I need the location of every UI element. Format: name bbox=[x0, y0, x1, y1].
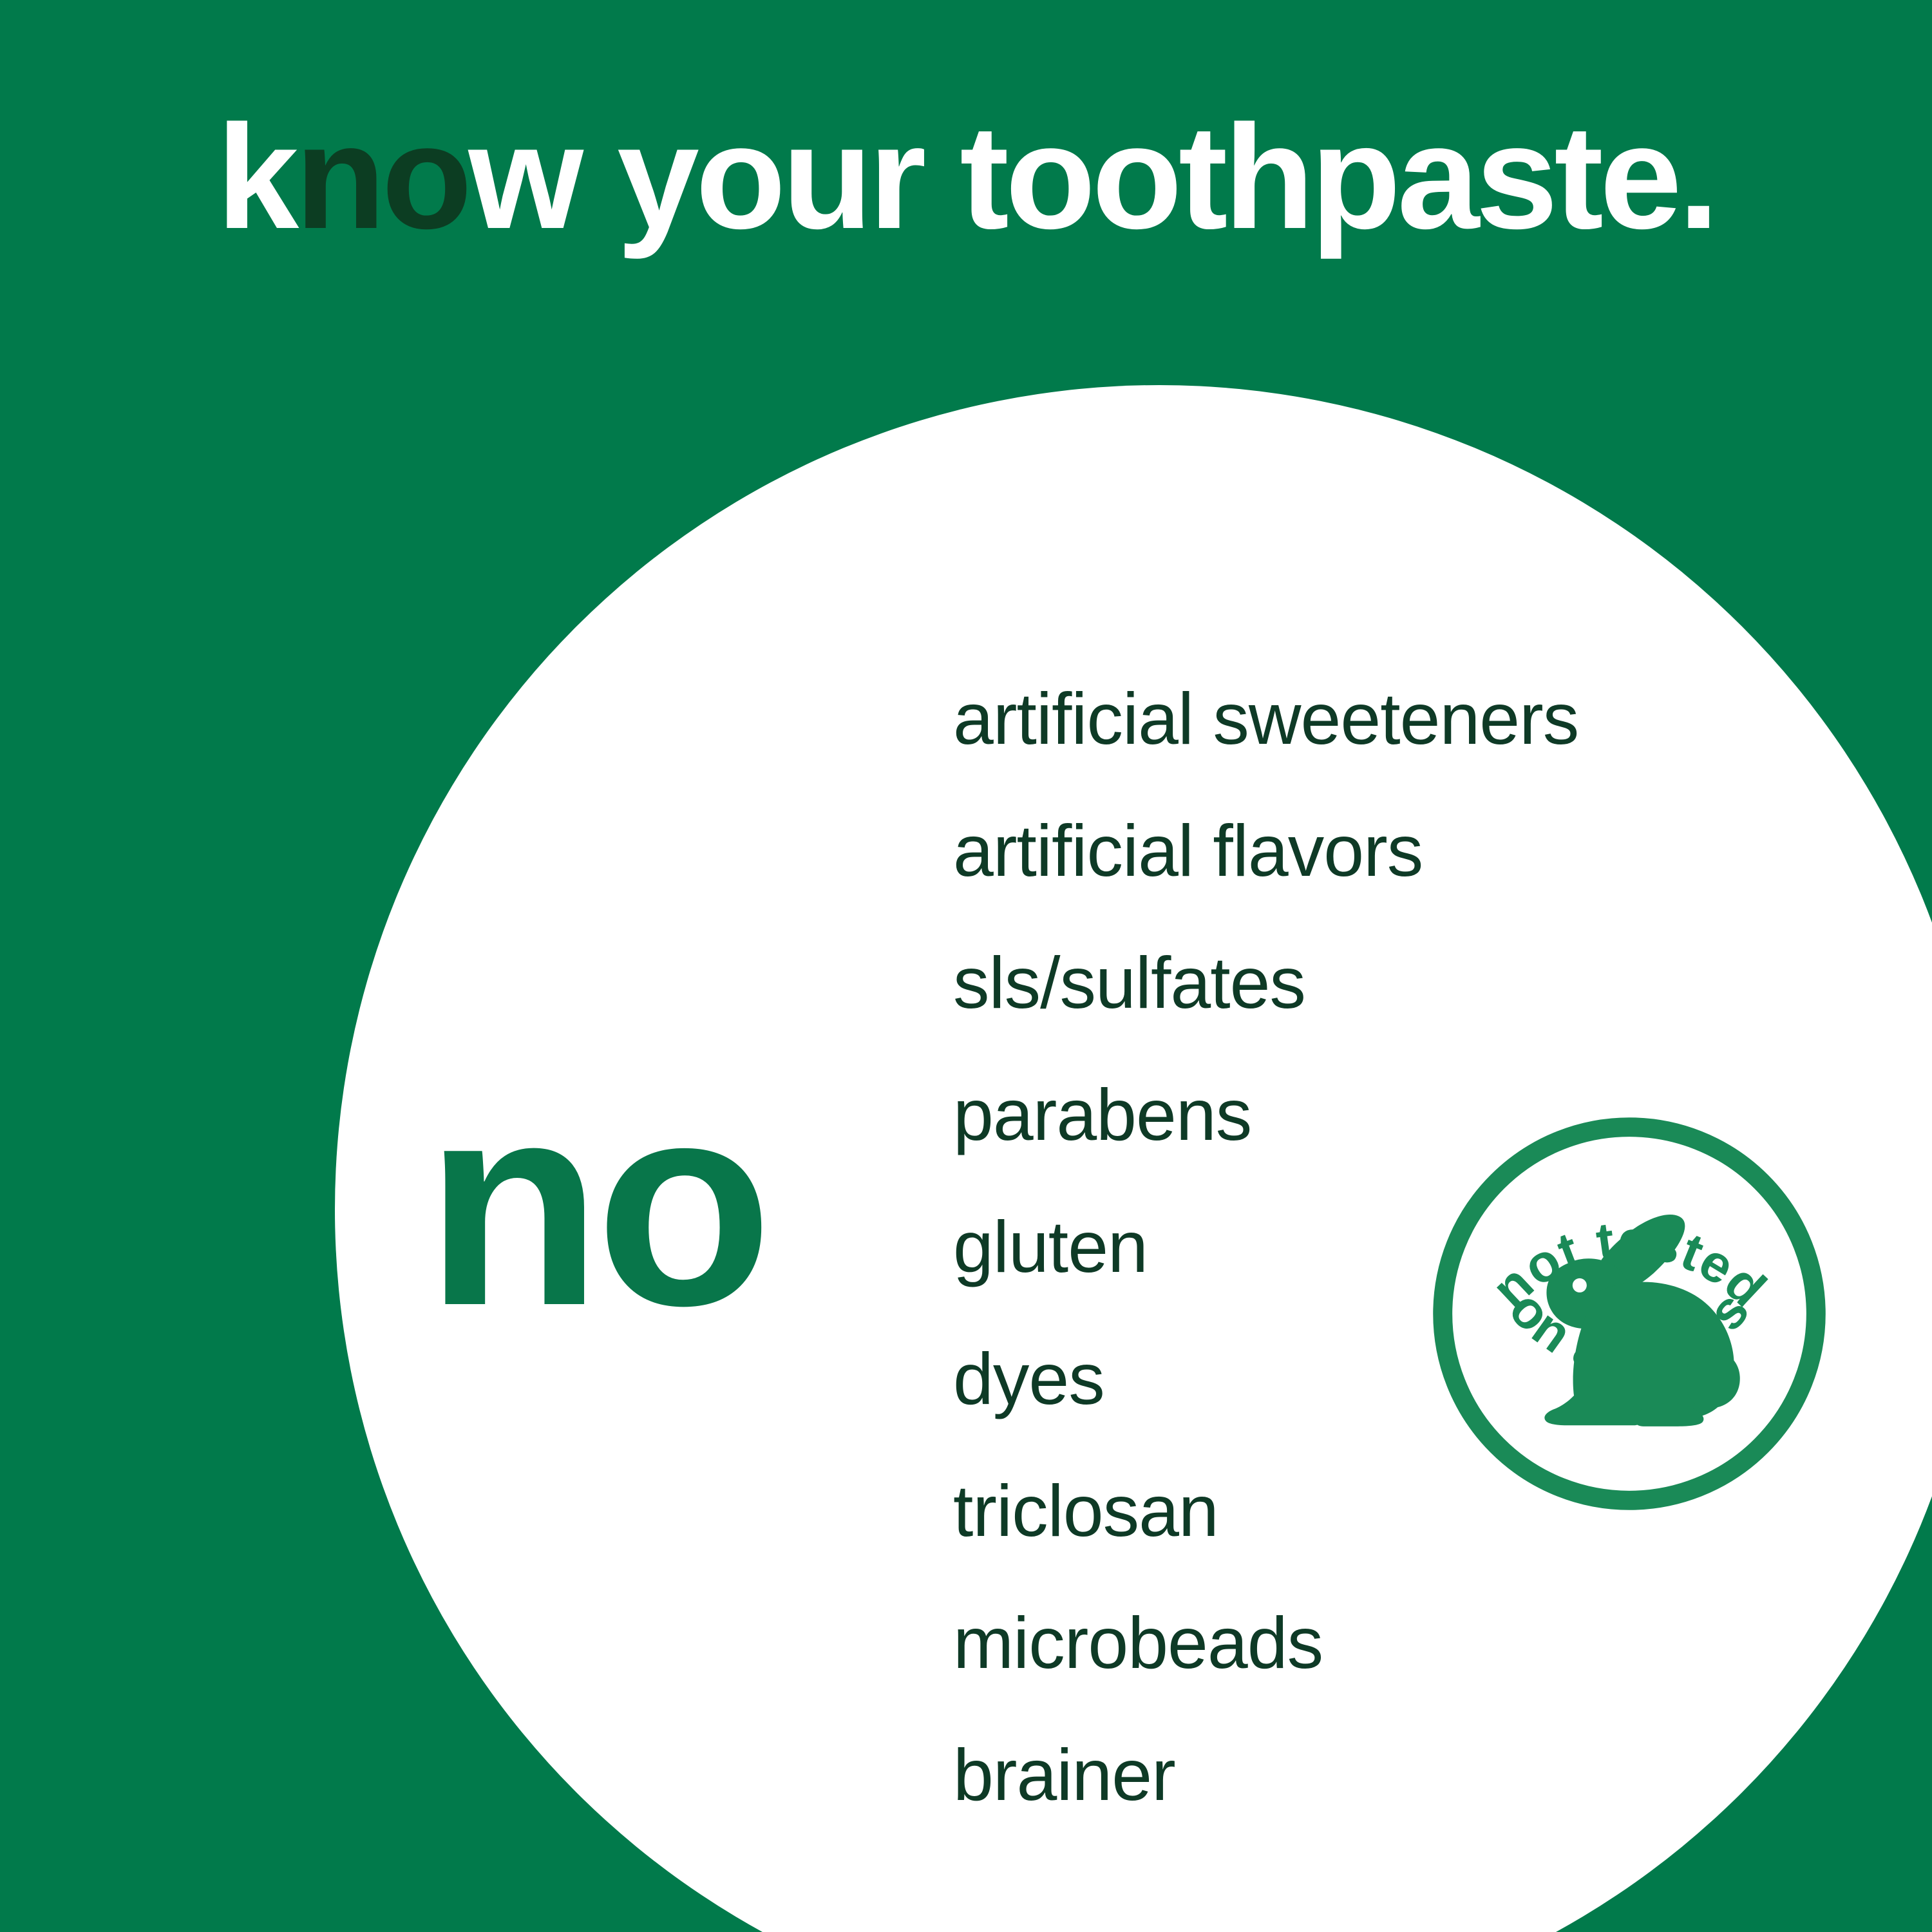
headline-accent-no: no bbox=[295, 94, 468, 260]
list-item: sls/sulfates bbox=[953, 947, 1726, 1019]
list-item: artificial sweeteners bbox=[953, 683, 1726, 755]
headline-part-after: w your toothpaste. bbox=[468, 94, 1716, 260]
page-title: know your toothpaste. bbox=[0, 103, 1932, 251]
not-tested-on-animals-badge: not tested on animals bbox=[1426, 1111, 1832, 1517]
poster-canvas: know your toothpaste. no artificial swee… bbox=[0, 0, 1932, 1932]
list-item: artificial flavors bbox=[953, 815, 1726, 887]
headline-part-before: k bbox=[216, 94, 295, 260]
big-no-label: no bbox=[425, 1059, 766, 1349]
list-item: brainer bbox=[953, 1739, 1726, 1812]
list-item: microbeads bbox=[953, 1607, 1726, 1680]
